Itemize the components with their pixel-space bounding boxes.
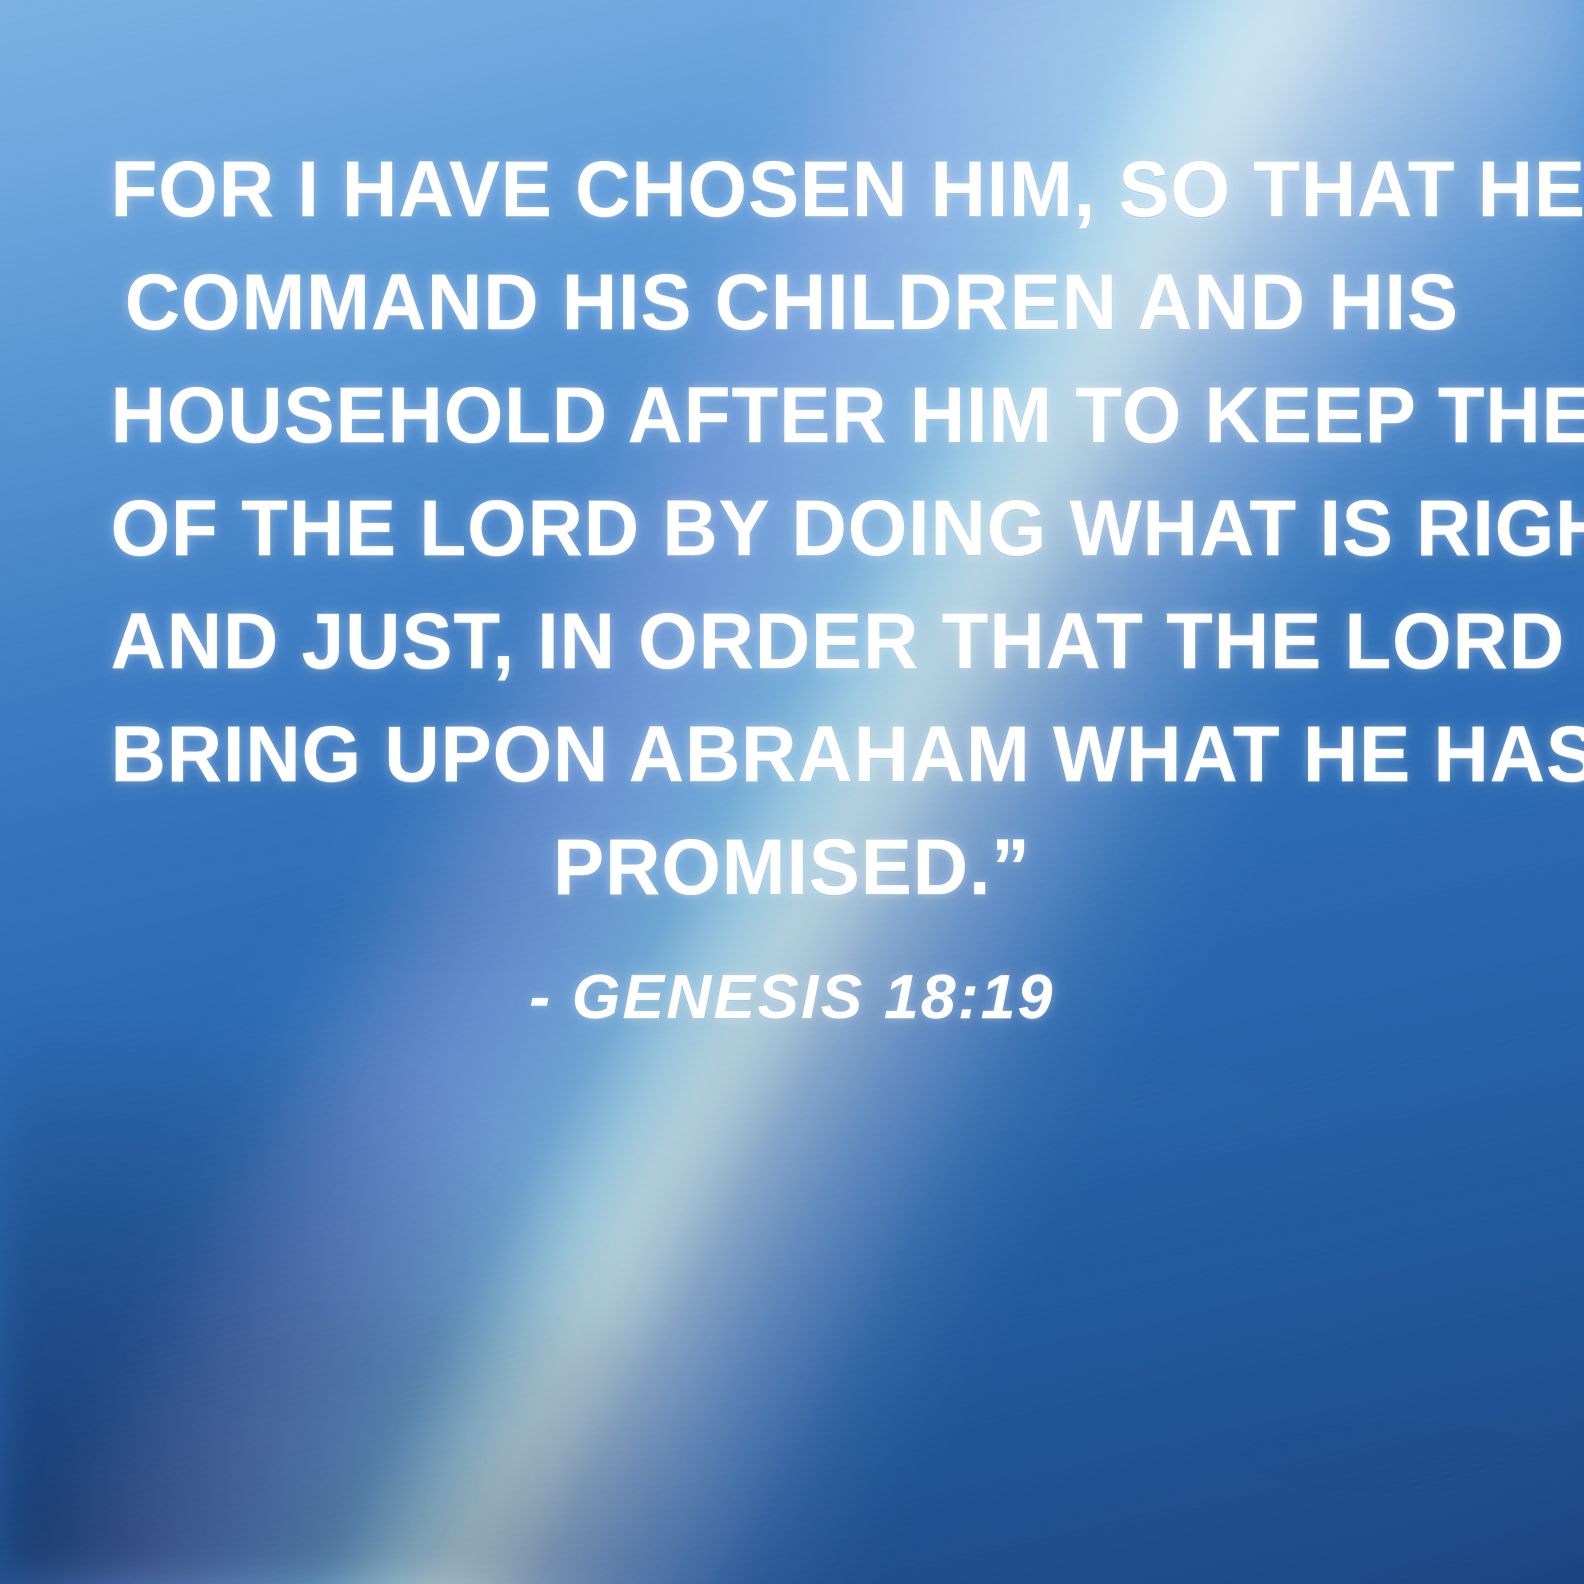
quote-text-block: FOR I HAVE CHOSEN HIM, SO THAT HE WILL C… [0, 132, 1584, 923]
verse-attribution: - GENESIS 18:19 [0, 962, 1584, 1033]
quote-line: FOR I HAVE CHOSEN HIM, SO THAT HE WILL [111, 132, 1474, 245]
quote-line: PROMISED.” [111, 810, 1474, 923]
scripture-quote-image: FOR I HAVE CHOSEN HIM, SO THAT HE WILL C… [0, 0, 1584, 1584]
quote-line: BRING UPON ABRAHAM WHAT HE HAS [111, 697, 1474, 810]
quote-line: AND JUST, IN ORDER THAT THE LORD MAY [111, 584, 1474, 697]
verse-reference: - GENESIS 18:19 [529, 962, 1054, 1033]
quote-line: OF THE LORD BY DOING WHAT IS RIGHT [111, 471, 1474, 584]
quote-line: COMMAND HIS CHILDREN AND HIS [111, 245, 1474, 358]
quote-line: HOUSEHOLD AFTER HIM TO KEEP THE WAY [111, 358, 1474, 471]
